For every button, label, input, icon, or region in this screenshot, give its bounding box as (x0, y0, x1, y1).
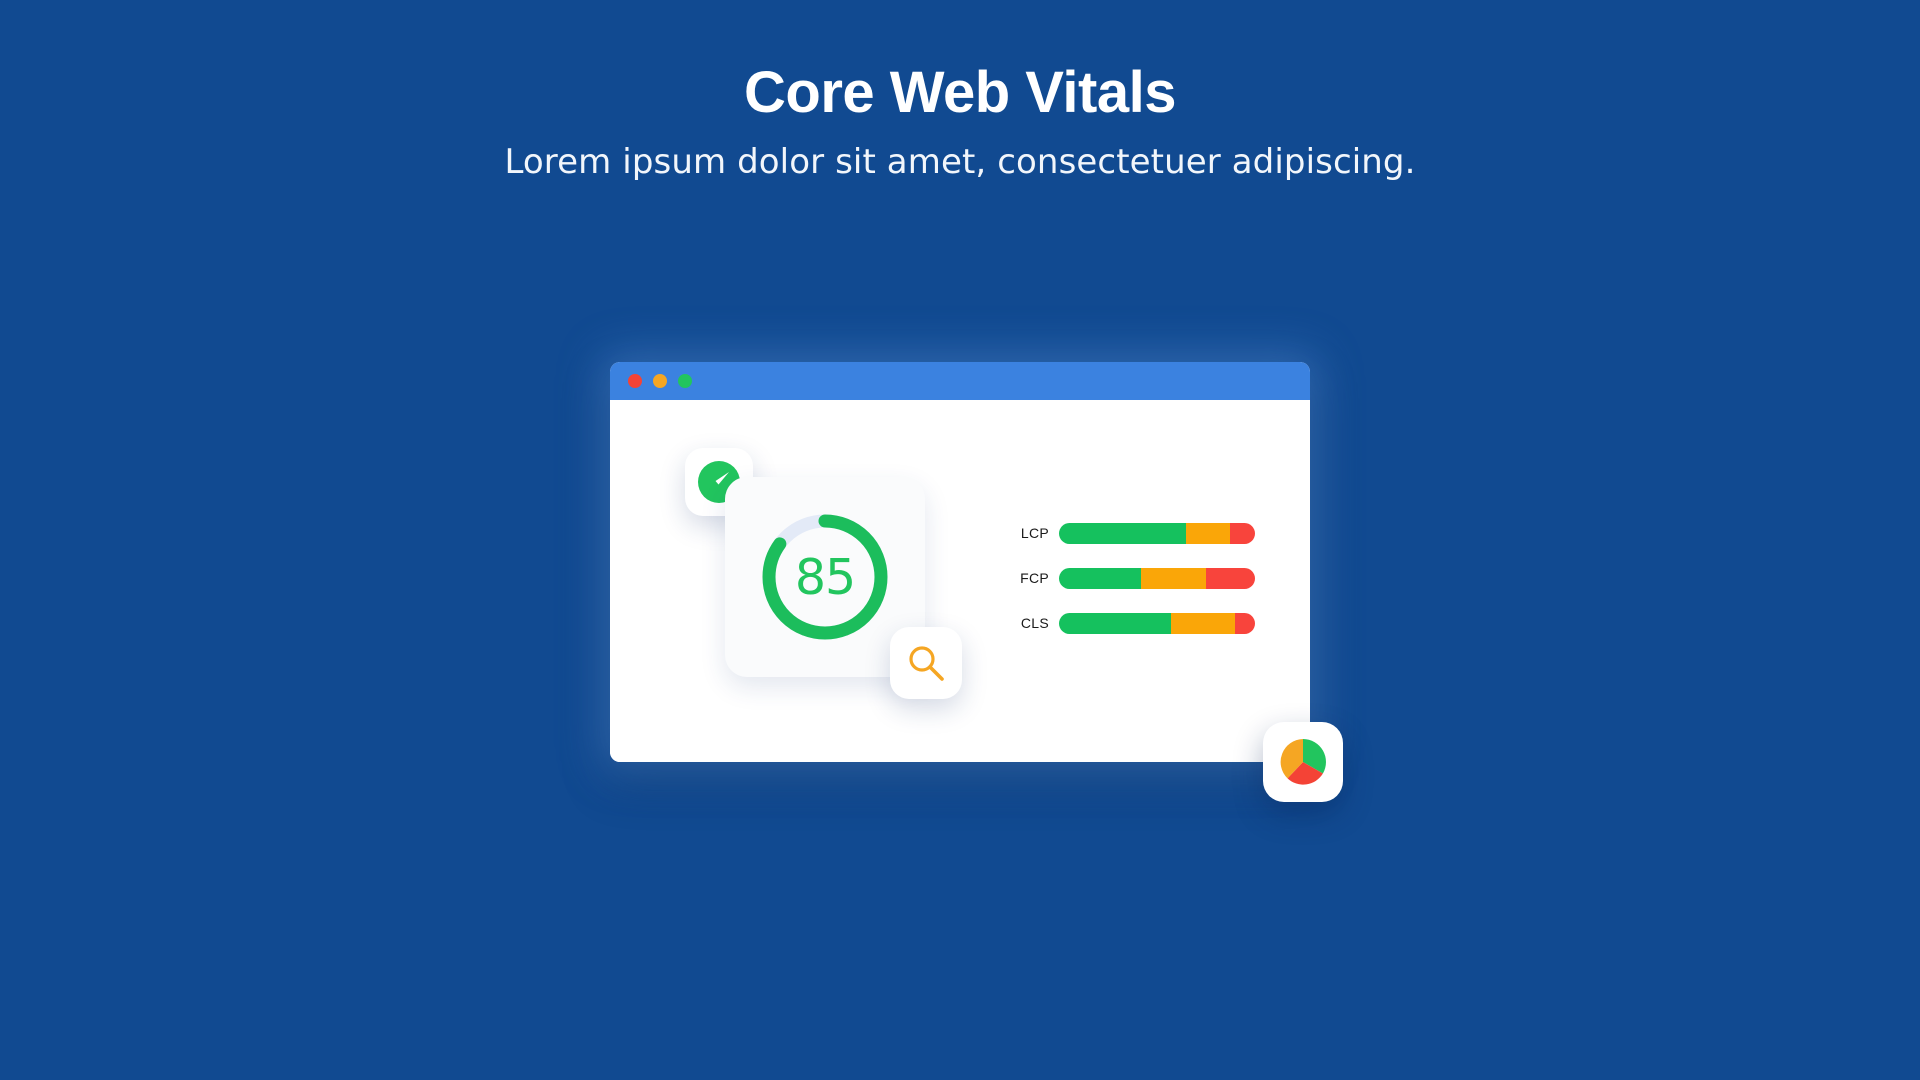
window-close-dot[interactable] (628, 374, 642, 388)
score-gauge: 85 (757, 509, 893, 645)
pie-chart-icon (1277, 736, 1329, 788)
segment-good (1059, 613, 1171, 634)
score-value: 85 (757, 509, 893, 645)
metric-bar-fcp[interactable] (1059, 568, 1255, 589)
page-header: Core Web Vitals Lorem ipsum dolor sit am… (0, 0, 1920, 182)
metric-row: LCP (1005, 522, 1255, 544)
search-badge[interactable] (890, 627, 962, 699)
segment-needs-improvement (1141, 568, 1206, 589)
browser-window-mockup: 85 LCP FCP (610, 362, 1310, 762)
search-icon (905, 642, 947, 684)
metric-bar-lcp[interactable] (1059, 523, 1255, 544)
segment-good (1059, 568, 1141, 589)
page-title: Core Web Vitals (0, 62, 1920, 123)
metric-label-fcp: FCP (1005, 570, 1049, 586)
window-maximize-dot[interactable] (678, 374, 692, 388)
segment-needs-improvement (1186, 523, 1229, 544)
metric-row: CLS (1005, 612, 1255, 634)
metric-label-lcp: LCP (1005, 525, 1049, 541)
segment-poor (1230, 523, 1255, 544)
browser-content-area: 85 LCP FCP (610, 400, 1310, 762)
segment-poor (1235, 613, 1255, 634)
segment-poor (1206, 568, 1255, 589)
metric-bar-cls[interactable] (1059, 613, 1255, 634)
metric-label-cls: CLS (1005, 615, 1049, 631)
browser-titlebar (610, 362, 1310, 400)
core-web-vitals-bars: LCP FCP CLS (1005, 522, 1255, 657)
metric-row: FCP (1005, 567, 1255, 589)
page-subtitle: Lorem ipsum dolor sit amet, consectetuer… (0, 123, 1920, 181)
segment-good (1059, 523, 1186, 544)
window-minimize-dot[interactable] (653, 374, 667, 388)
pie-chart-badge[interactable] (1263, 722, 1343, 802)
segment-needs-improvement (1171, 613, 1236, 634)
